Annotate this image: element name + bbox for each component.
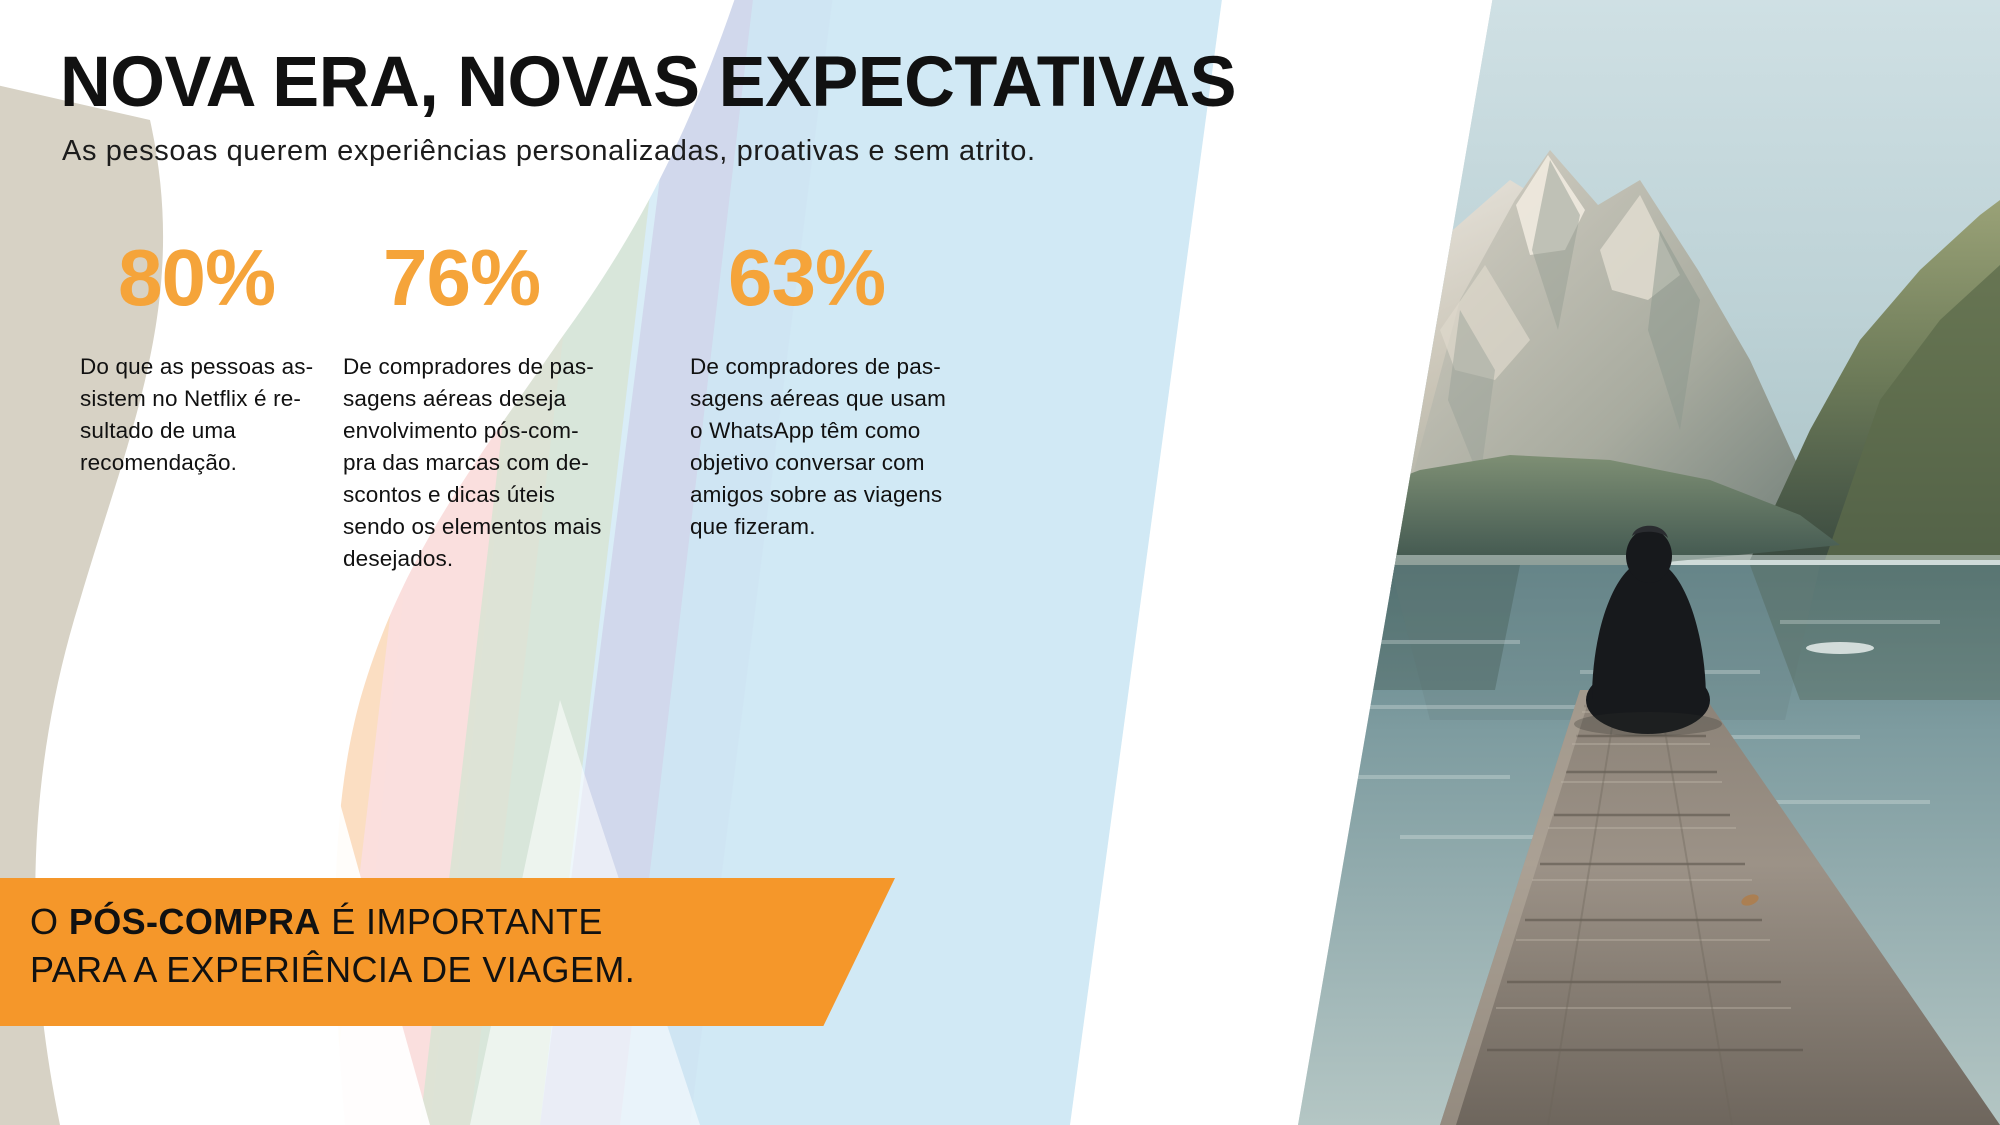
callout-suffix: É IMPORTANTE xyxy=(321,901,603,942)
callout-prefix: O xyxy=(30,901,69,942)
stat-description-1: Do que as pessoas as- sistem no Netflix … xyxy=(80,351,325,479)
stat-percentage-2: 76% xyxy=(343,238,670,318)
stat-description-3: De compradores de pas- sagens aéreas que… xyxy=(690,351,1030,543)
callout-banner-text: O PÓS-COMPRA É IMPORTANTE PARA A EXPERIÊ… xyxy=(30,898,635,994)
callout-banner-line-1: O PÓS-COMPRA É IMPORTANTE xyxy=(30,898,635,946)
stat-description-2: De compradores de pas- sagens aéreas des… xyxy=(343,351,670,575)
callout-emphasis: PÓS-COMPRA xyxy=(69,901,321,942)
stat-card-1: 80% Do que as pessoas as- sistem no Netf… xyxy=(0,238,325,479)
stat-percentage-1: 80% xyxy=(80,238,325,318)
page-subtitle: As pessoas querem experiências personali… xyxy=(62,134,1036,169)
statistics-row: 80% Do que as pessoas as- sistem no Netf… xyxy=(0,238,1120,575)
infographic-slide: NOVA ERA, NOVAS EXPECTATIVAS As pessoas … xyxy=(0,0,2000,1125)
stat-percentage-3: 63% xyxy=(690,238,1030,318)
stat-card-3: 63% De compradores de pas- sagens aéreas… xyxy=(670,238,1030,543)
callout-banner-line-2: PARA A EXPERIÊNCIA DE VIAGEM. xyxy=(30,946,635,994)
stat-card-2: 76% De compradores de pas- sagens aéreas… xyxy=(325,238,670,575)
page-title: NOVA ERA, NOVAS EXPECTATIVAS xyxy=(60,47,1236,118)
